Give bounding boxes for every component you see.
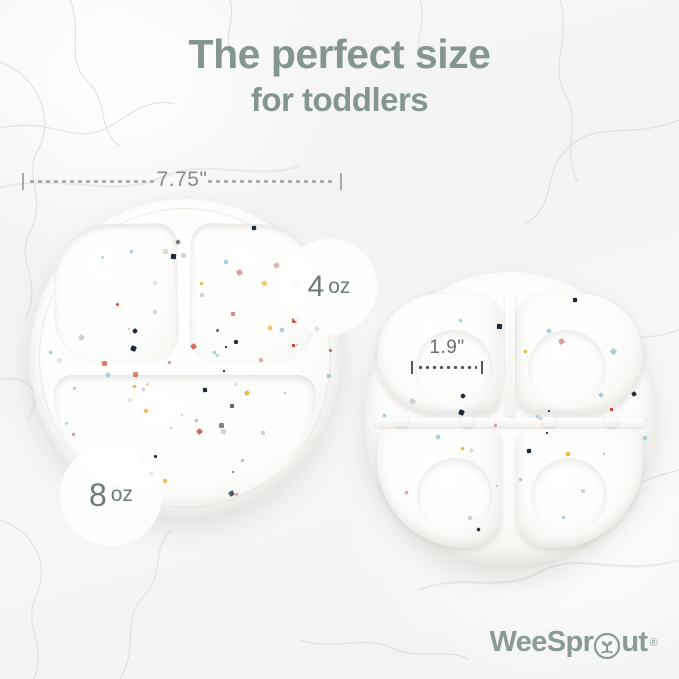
underside-divider-vertical xyxy=(505,294,515,416)
brand-logo: WeeSpr ut ® xyxy=(489,626,657,659)
dimension-value-suction-pad: 1.9" xyxy=(410,337,484,359)
underside-nub-3 xyxy=(543,417,556,427)
confetti-speck xyxy=(631,391,636,396)
capacity-badge-8oz-number: 8 xyxy=(89,477,107,514)
confetti-speck xyxy=(631,391,636,396)
confetti-speck xyxy=(631,391,636,396)
confetti-speck xyxy=(610,408,613,411)
toddler-plate-underside xyxy=(365,272,655,570)
capacity-badge-8oz: 8 oz xyxy=(60,444,162,546)
plate-compartment-top-left xyxy=(53,223,179,365)
dimension-suction-pad-width: 1.9" xyxy=(410,338,484,378)
pad-dimension-dots xyxy=(417,366,477,369)
brand-name-part-1: WeeSpr xyxy=(489,626,593,659)
suction-pad-bottom-right xyxy=(531,458,607,534)
confetti-speck xyxy=(643,435,648,440)
dimension-end-cap-right xyxy=(340,173,342,190)
capacity-badge-4oz-number: 4 xyxy=(308,270,325,304)
confetti-speck xyxy=(610,408,613,411)
confetti-speck xyxy=(643,435,648,440)
suction-pad-top-right xyxy=(528,330,606,408)
confetti-speck xyxy=(610,408,613,411)
headline-line-2: for toddlers xyxy=(0,83,679,117)
suction-pad-bottom-left xyxy=(417,458,493,534)
capacity-badge-8oz-unit: oz xyxy=(111,483,133,507)
sprout-icon xyxy=(594,633,620,659)
registered-trademark-symbol: ® xyxy=(649,637,657,649)
brand-name-part-2: ut xyxy=(621,626,647,659)
dimension-dots-right xyxy=(206,180,336,183)
confetti-speck xyxy=(610,408,613,411)
confetti-speck xyxy=(643,435,648,440)
product-infographic: The perfect size for toddlers 7.75" xyxy=(0,0,679,679)
capacity-badge-4oz-unit: oz xyxy=(328,275,350,299)
confetti-speck xyxy=(631,391,636,396)
pad-dimension-end-cap-right xyxy=(481,361,483,374)
confetti-speck xyxy=(610,408,613,411)
underside-nub-4 xyxy=(605,417,618,427)
capacity-badge-4oz: 4 oz xyxy=(281,239,377,335)
confetti-speck xyxy=(643,435,648,440)
underside-nub-1 xyxy=(395,417,408,427)
headline-line-1: The perfect size xyxy=(0,34,679,76)
underside-nub-2 xyxy=(461,417,474,427)
pad-dimension-end-cap-left xyxy=(411,361,413,374)
dimension-plate-width: 7.75" xyxy=(22,170,342,194)
page-title: The perfect size for toddlers xyxy=(0,34,679,116)
